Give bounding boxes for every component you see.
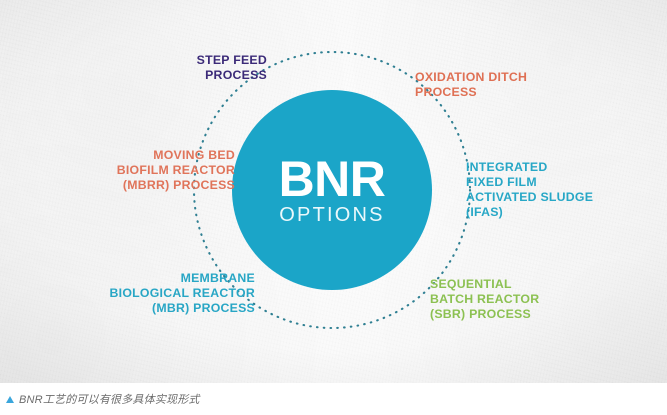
label-oxidation-ditch-process: OXIDATION DITCH PROCESS xyxy=(415,70,630,100)
label-integrated-fixed-film-activated-sludge: INTEGRATED FIXED FILM ACTIVATED SLUDGE (… xyxy=(466,160,666,220)
label-step-feed-process: STEP FEED PROCESS xyxy=(77,53,267,83)
center-hub-circle xyxy=(232,90,432,290)
label-sequential-batch-reactor-process: SEQUENTIAL BATCH REACTOR (SBR) PROCESS xyxy=(430,277,640,322)
caption-text: BNR工艺的可以有很多具体实现形式 xyxy=(19,391,200,407)
bnr-options-infographic: BNR OPTIONS STEP FEED PROCESS OXIDATION … xyxy=(0,0,667,383)
label-membrane-biological-reactor-process: MEMBRANE BIOLOGICAL REACTOR (MBR) PROCES… xyxy=(40,271,255,316)
page-root: BNR OPTIONS STEP FEED PROCESS OXIDATION … xyxy=(0,0,667,415)
caption-bar: BNR工艺的可以有很多具体实现形式 xyxy=(0,383,667,415)
triangle-marker-icon xyxy=(6,396,14,403)
label-moving-bed-biofilm-reactor-process: MOVING BED BIOFILM REACTOR (MBRR) PROCES… xyxy=(20,148,235,193)
